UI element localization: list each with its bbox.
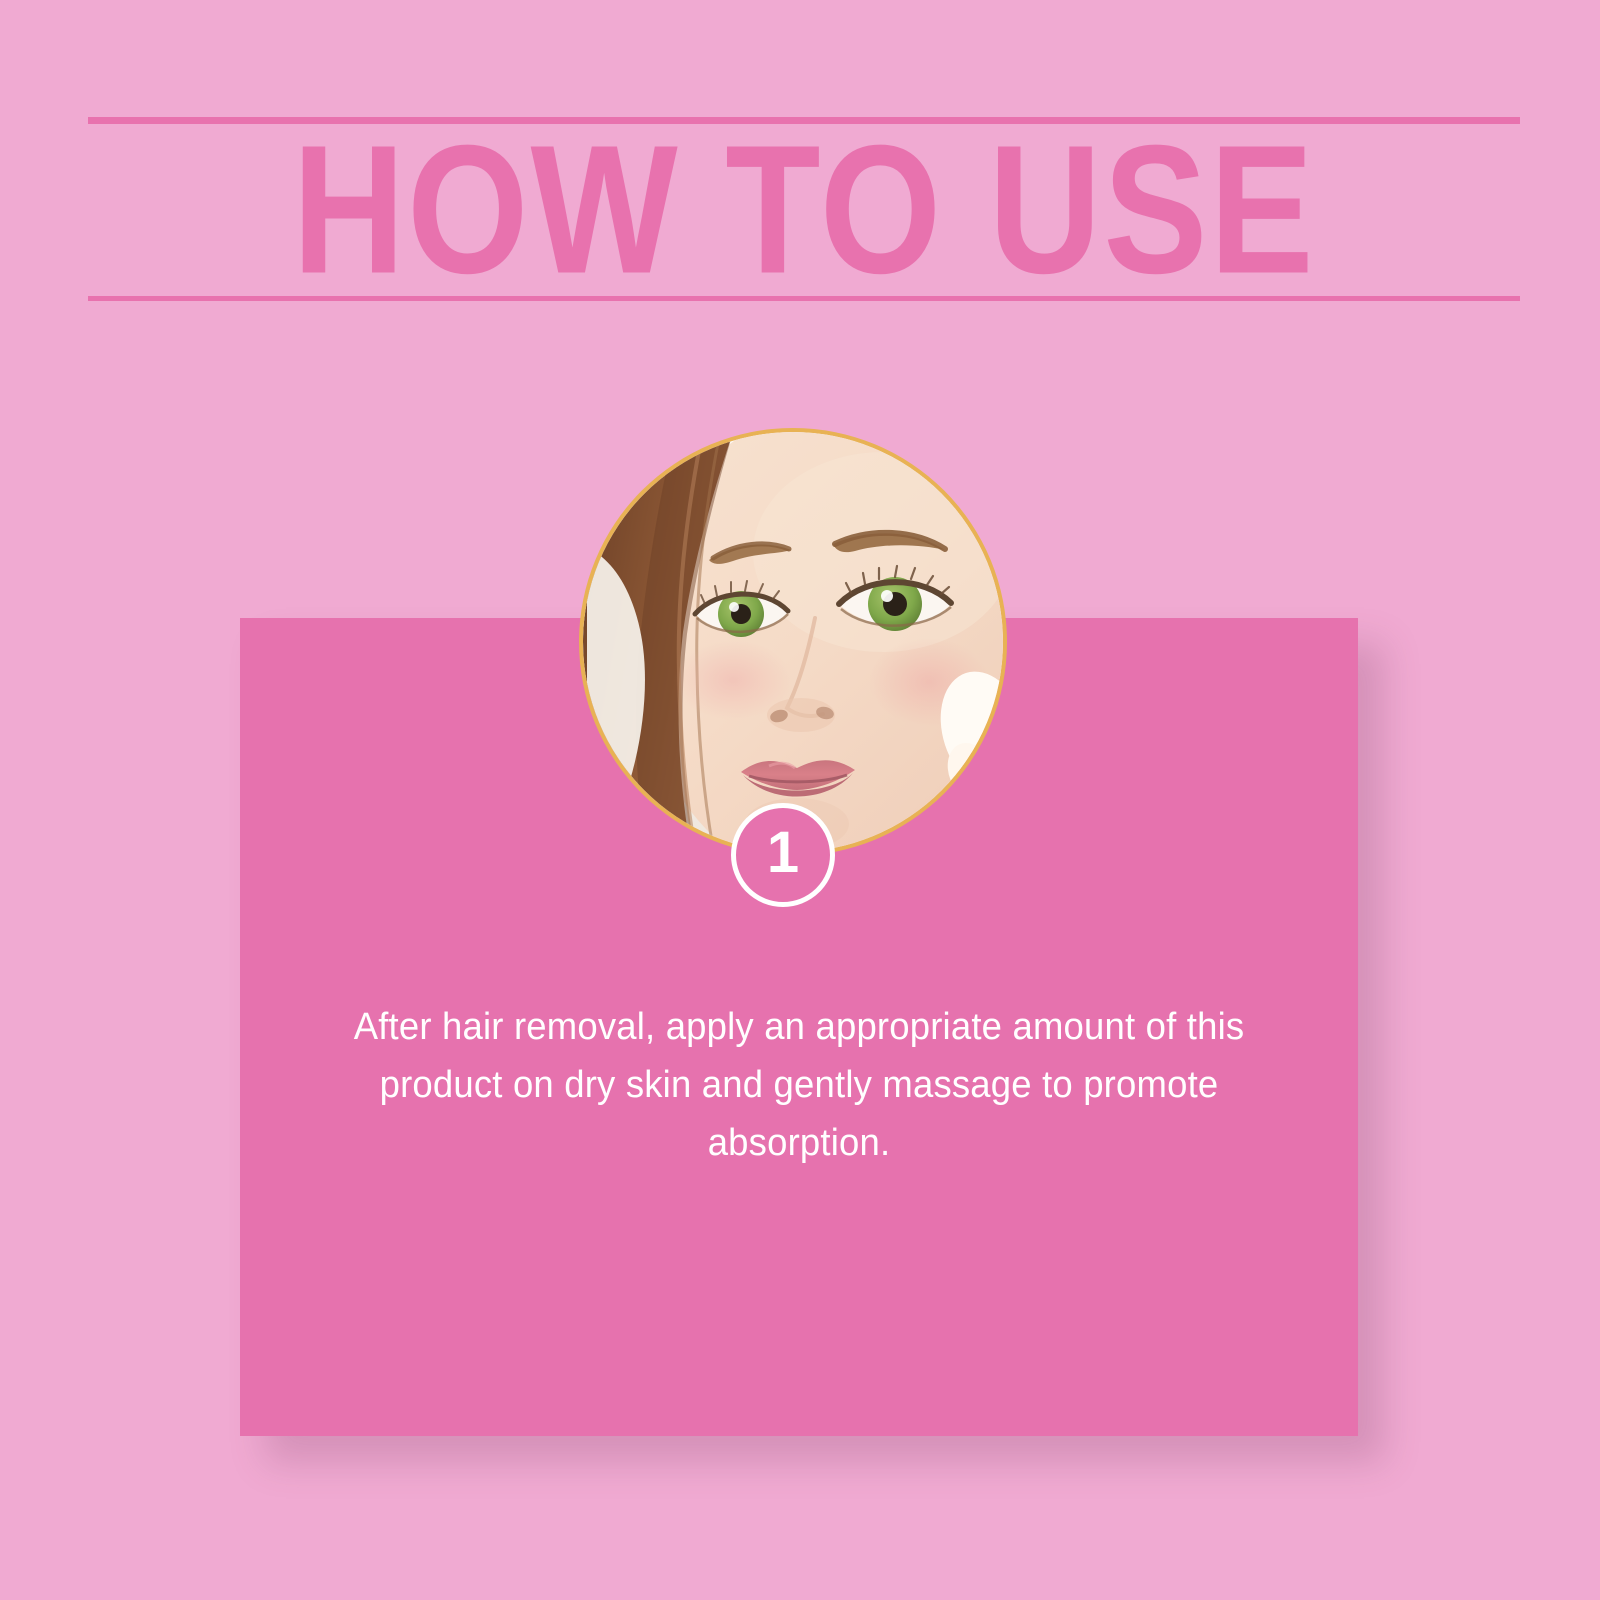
step-photo bbox=[583, 432, 1003, 852]
face-photo-illustration bbox=[583, 432, 1003, 852]
step-number-label: 1 bbox=[767, 824, 799, 882]
step-instruction: After hair removal, apply an appropriate… bbox=[339, 998, 1259, 1172]
header: HOW TO USE bbox=[88, 110, 1520, 306]
page-title: HOW TO USE bbox=[59, 105, 1548, 312]
step-number-badge: 1 bbox=[731, 803, 835, 907]
header-rule-bottom bbox=[88, 296, 1520, 301]
how-to-use-poster: HOW TO USE After hair removal, apply an … bbox=[0, 0, 1600, 1600]
